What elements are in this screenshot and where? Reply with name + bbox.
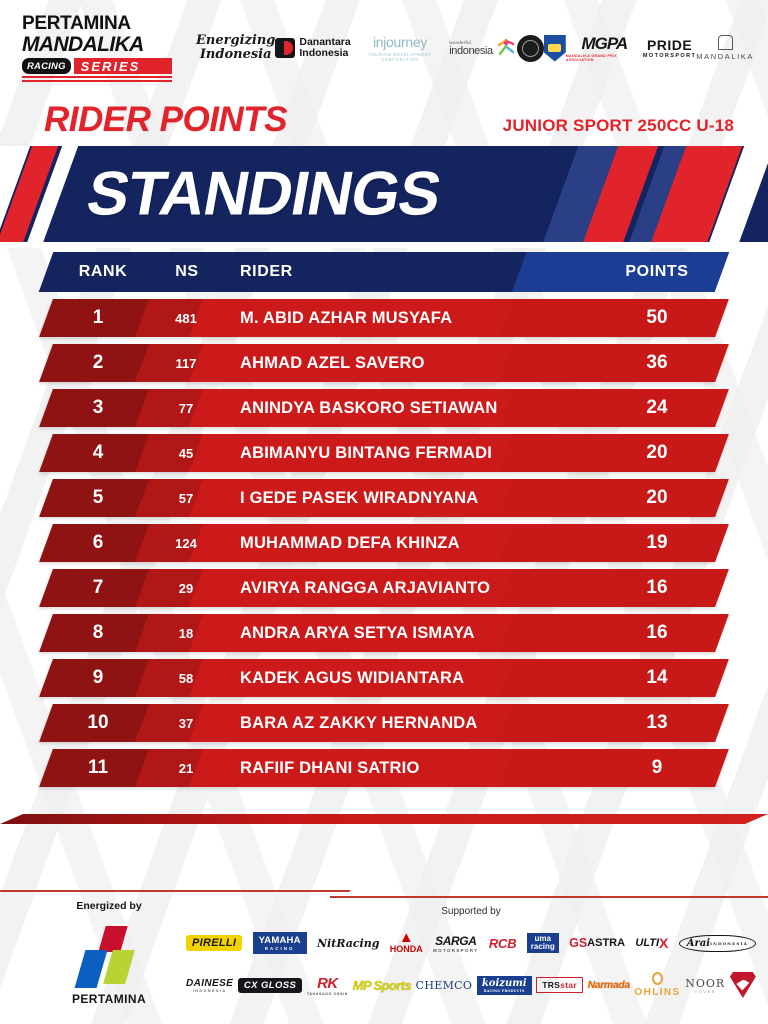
cell-ns: 45 bbox=[150, 446, 222, 461]
cell-rank: 8 bbox=[46, 622, 150, 644]
supported-by-block: Supported by PIRELLI YAMAHA RACING NitRa… bbox=[180, 906, 762, 1003]
cell-points: 50 bbox=[592, 307, 722, 329]
uma-sub: racing bbox=[531, 943, 555, 951]
noor-wordmark: NOOR bbox=[685, 977, 725, 990]
astra-wordmark: ASTRA bbox=[587, 937, 625, 949]
cell-ns: 37 bbox=[150, 716, 222, 731]
pertamina-wordmark: PERTAMINA bbox=[44, 992, 174, 1006]
logo-underline-rules bbox=[22, 76, 172, 82]
mandalika-wordmark: MANDALIKA bbox=[696, 52, 754, 61]
table-row: 729AVIRYA RANGGA ARJAVIANTO16 bbox=[39, 569, 729, 607]
standings-title: STANDINGS bbox=[82, 159, 446, 230]
sponsor-ultix: ULTIX bbox=[635, 935, 668, 951]
pertamina-mandalika-racing-series-logo: PERTAMINA MANDALIKA RACING SERIES bbox=[22, 14, 172, 82]
koizumi-sub: RACING PRODUCTS bbox=[482, 989, 527, 993]
category-label: JUNIOR SPORT 250CC U-18 bbox=[503, 116, 734, 136]
ultix-wordmark: ULTI bbox=[635, 937, 659, 949]
cell-rank: 5 bbox=[46, 487, 150, 509]
cell-rider: ANDRA ARYA SETYA ISMAYA bbox=[222, 624, 592, 643]
sponsor-gs-astra: GSASTRA bbox=[569, 936, 625, 950]
mgpa-subtitle: MANDALIKA GRAND PRIX ASSOCIATION bbox=[566, 54, 643, 62]
cell-ns: 124 bbox=[150, 536, 222, 551]
pride-subtitle: MOTORSPORT bbox=[643, 53, 696, 59]
logo-badge-racing: RACING bbox=[22, 58, 71, 74]
sponsor-cx-gloss: CX GLOSS bbox=[238, 978, 302, 993]
standings-table: RANK NS RIDER POINTS 1481M. ABID AZHAR M… bbox=[0, 252, 768, 787]
cell-ns: 18 bbox=[150, 626, 222, 641]
energized-by-block: Energized by PERTAMINA bbox=[44, 900, 174, 1006]
footer: Energized by PERTAMINA Supported by PIRE… bbox=[0, 900, 768, 1024]
ultix-x-icon: X bbox=[659, 935, 668, 951]
sponsor-noor: NOOR COVER bbox=[685, 977, 725, 994]
sponsor-uma-racing: uma racing bbox=[527, 933, 559, 954]
footer-red-band bbox=[0, 814, 768, 824]
logo-line-pertamina: PERTAMINA bbox=[22, 14, 172, 33]
cell-ns: 481 bbox=[150, 311, 222, 326]
standings-banner: STANDINGS bbox=[0, 146, 768, 242]
injourney-subtitle: TOURISM DEVELOPMENT CORPORATION bbox=[351, 52, 450, 62]
table-row: 557I GEDE PASEK WIRADNYANA20 bbox=[39, 479, 729, 517]
arai-sub: INDONESIA bbox=[710, 941, 748, 946]
table-header-row: RANK NS RIDER POINTS bbox=[39, 252, 730, 292]
banner-bottom-spacer bbox=[0, 242, 768, 248]
sponsor-logo-bar: PERTAMINA MANDALIKA RACING SERIES Energi… bbox=[0, 0, 768, 96]
cell-ns: 29 bbox=[150, 581, 222, 596]
wonderful-indonesia-logo: wonderful indonesia bbox=[449, 37, 517, 59]
column-header-rank: RANK bbox=[46, 263, 150, 281]
table-row: 1121RAFIIF DHANI SATRIO9 bbox=[39, 749, 729, 787]
cell-rank: 4 bbox=[46, 442, 150, 464]
energized-by-label: Energized by bbox=[44, 900, 174, 912]
sponsor-narmada: Narmada bbox=[588, 979, 630, 991]
cell-points: 20 bbox=[592, 442, 722, 464]
cell-rank: 6 bbox=[46, 532, 150, 554]
sponsor-chemco: CHEMCO bbox=[416, 979, 473, 992]
pride-motorsport-logo: PRIDE MOTORSPORT bbox=[643, 37, 696, 59]
cell-rank: 10 bbox=[46, 712, 150, 734]
danantara-line2: Indonesia bbox=[299, 48, 350, 59]
energizing-line1: Energizing bbox=[196, 34, 275, 48]
sponsor-rk: RK TAKASAGO CHAIN bbox=[307, 975, 348, 996]
sponsor-dainese: DAINESE INDONESIA bbox=[186, 978, 233, 993]
logo-line-mandalika: MANDALIKA bbox=[22, 34, 172, 55]
sponsor-koizumi: koizumi RACING PRODUCTS bbox=[477, 976, 532, 995]
trs-wordmark: TRS bbox=[542, 980, 560, 990]
sponsor-nitro-racing: NitRacing bbox=[317, 937, 379, 950]
dainese-sub: INDONESIA bbox=[186, 989, 233, 993]
danantara-mark-icon bbox=[275, 38, 295, 58]
koizumi-wordmark: koizumi bbox=[482, 978, 527, 989]
cell-rank: 11 bbox=[46, 757, 150, 779]
cell-rider: RAFIIF DHANI SATRIO bbox=[222, 759, 592, 778]
title-row: RIDER POINTS JUNIOR SPORT 250CC U-18 bbox=[0, 96, 768, 137]
cell-rider: M. ABID AZHAR MUSYAFA bbox=[222, 309, 592, 328]
dainese-wordmark: DAINESE bbox=[186, 978, 233, 989]
cell-ns: 77 bbox=[150, 401, 222, 416]
pride-wordmark: PRIDE bbox=[647, 37, 692, 53]
cell-rider: ANINDYA BASKORO SETIAWAN bbox=[222, 399, 592, 418]
table-body: 1481M. ABID AZHAR MUSYAFA502117AHMAD AZE… bbox=[46, 299, 722, 787]
footer-divider bbox=[0, 884, 768, 898]
table-row: 1481M. ABID AZHAR MUSYAFA50 bbox=[39, 299, 729, 337]
injourney-wordmark: injourney bbox=[373, 34, 427, 50]
trs-sub: star bbox=[560, 980, 577, 990]
column-header-ns: NS bbox=[150, 263, 222, 281]
mandalika-logo: MANDALIKA bbox=[696, 35, 754, 61]
yamaha-sub: RACING bbox=[259, 946, 301, 951]
cell-ns: 21 bbox=[150, 761, 222, 776]
sponsor-row-2: DAINESE INDONESIA CX GLOSS RK TAKASAGO C… bbox=[180, 967, 762, 1003]
cell-rider: I GEDE PASEK WIRADNYANA bbox=[222, 489, 592, 508]
sponsor-mp-sports: MP Sports bbox=[353, 978, 411, 993]
honda-wing-icon: ▲ bbox=[390, 932, 423, 944]
sponsor-honda: ▲ HONDA bbox=[390, 932, 423, 954]
ohlins-wordmark: OHLINS bbox=[634, 987, 680, 998]
column-header-rider: RIDER bbox=[222, 263, 592, 281]
cell-rider: BARA AZ ZAKKY HERNANDA bbox=[222, 714, 592, 733]
cell-rank: 9 bbox=[46, 667, 150, 689]
yamaha-wordmark: YAMAHA bbox=[259, 935, 301, 946]
table-row: 377ANINDYA BASKORO SETIAWAN24 bbox=[39, 389, 729, 427]
sponsor-trs: TRSstar bbox=[536, 977, 583, 993]
cell-rider: KADEK AGUS WIDIANTARA bbox=[222, 669, 592, 688]
rk-sub: TAKASAGO CHAIN bbox=[307, 992, 348, 996]
cell-ns: 57 bbox=[150, 491, 222, 506]
cell-ns: 58 bbox=[150, 671, 222, 686]
ohlins-ring-icon bbox=[652, 972, 663, 985]
mgpa-logo: MGPA MANDALIKA GRAND PRIX ASSOCIATION bbox=[566, 34, 643, 62]
rk-wordmark: RK bbox=[317, 975, 338, 992]
sponsor-ohlins: OHLINS bbox=[634, 972, 680, 998]
standings-poster: PERTAMINA MANDALIKA RACING SERIES Energi… bbox=[0, 0, 768, 1024]
wonderful-indonesia-mark-icon bbox=[495, 37, 517, 59]
garuda-emblem-logo bbox=[517, 35, 544, 62]
cell-points: 16 bbox=[592, 622, 722, 644]
sponsor-pirelli: PIRELLI bbox=[186, 935, 242, 951]
table-row: 2117AHMAD AZEL SAVERO36 bbox=[39, 344, 729, 382]
cell-rank: 1 bbox=[46, 307, 150, 329]
danantara-indonesia-logo: Danantara Indonesia bbox=[275, 37, 350, 59]
table-row: 958KADEK AGUS WIDIANTARA14 bbox=[39, 659, 729, 697]
cell-rank: 7 bbox=[46, 577, 150, 599]
energizing-line2: Indonesia bbox=[200, 48, 272, 62]
cell-points: 9 bbox=[592, 757, 722, 779]
table-row: 818ANDRA ARYA SETYA ISMAYA16 bbox=[39, 614, 729, 652]
mgpa-wordmark: MGPA bbox=[581, 34, 627, 54]
mandalika-mark-icon bbox=[718, 35, 733, 50]
cell-points: 24 bbox=[592, 397, 722, 419]
sarga-wordmark: SARGA bbox=[435, 934, 476, 948]
pertamina-logo-icon bbox=[72, 926, 146, 988]
injourney-logo: injourney TOURISM DEVELOPMENT CORPORATIO… bbox=[351, 34, 450, 62]
cell-rider: MUHAMMAD DEFA KHINZA bbox=[222, 534, 592, 553]
column-header-points: POINTS bbox=[592, 263, 722, 281]
cell-points: 36 bbox=[592, 352, 722, 374]
cell-ns: 117 bbox=[150, 356, 222, 371]
cell-points: 19 bbox=[592, 532, 722, 554]
cell-rider: AHMAD AZEL SAVERO bbox=[222, 354, 592, 373]
honda-wordmark: HONDA bbox=[390, 944, 423, 954]
table-row: 1037BARA AZ ZAKKY HERNANDA13 bbox=[39, 704, 729, 742]
garuda-emblem-icon bbox=[517, 35, 544, 62]
logo-badge-series: SERIES bbox=[74, 58, 172, 74]
imi-shield-icon bbox=[544, 35, 566, 62]
gs-wordmark: GS bbox=[569, 936, 587, 950]
table-row: 6124MUHAMMAD DEFA KHINZA19 bbox=[39, 524, 729, 562]
arai-wordmark: Arai bbox=[687, 938, 710, 949]
sponsor-row-1: PIRELLI YAMAHA RACING NitRacing ▲ HONDA bbox=[180, 925, 762, 961]
sponsor-arai: Arai INDONESIA bbox=[679, 935, 756, 952]
cell-rider: AVIRYA RANGGA ARJAVIANTO bbox=[222, 579, 592, 598]
cell-points: 13 bbox=[592, 712, 722, 734]
cell-points: 20 bbox=[592, 487, 722, 509]
cell-rank: 2 bbox=[46, 352, 150, 374]
energizing-indonesia-logo: Energizing Indonesia bbox=[196, 34, 275, 62]
page-title: RIDER POINTS bbox=[44, 102, 287, 137]
sponsor-rcb: RCB bbox=[489, 936, 517, 951]
wonderful-wordmark: indonesia bbox=[449, 45, 493, 57]
sponsor-red-shield-icon bbox=[730, 972, 756, 998]
sponsor-sarga-motorsport: SARGA MOTORSPORT bbox=[433, 934, 478, 953]
cell-rider: ABIMANYU BINTANG FERMADI bbox=[222, 444, 592, 463]
sarga-sub: MOTORSPORT bbox=[433, 948, 478, 953]
cell-rank: 3 bbox=[46, 397, 150, 419]
table-row: 445ABIMANYU BINTANG FERMADI20 bbox=[39, 434, 729, 472]
supported-by-label: Supported by bbox=[180, 906, 762, 917]
cell-points: 14 bbox=[592, 667, 722, 689]
sponsor-yamaha-racing: YAMAHA RACING bbox=[253, 932, 307, 954]
cell-points: 16 bbox=[592, 577, 722, 599]
noor-sub: COVER bbox=[685, 990, 725, 994]
imi-emblem-logo bbox=[544, 35, 566, 62]
